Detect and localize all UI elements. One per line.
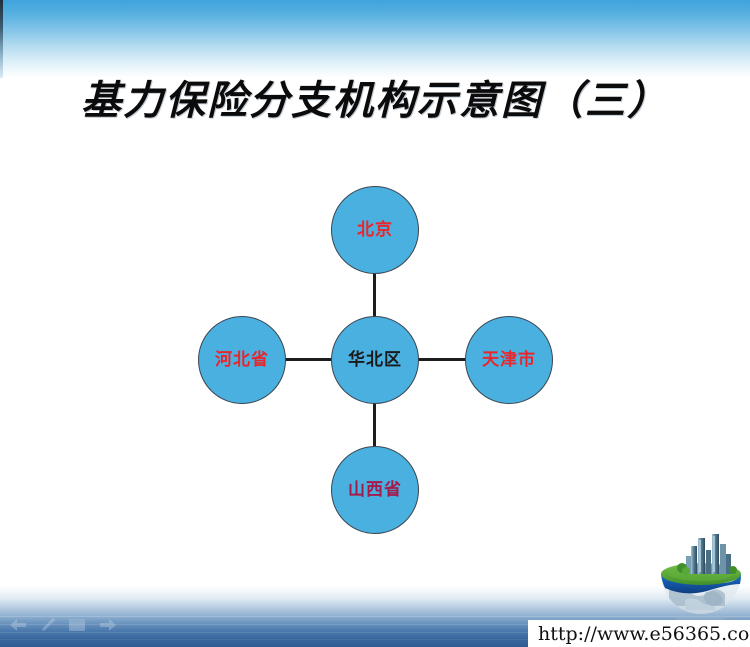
watermark-banner: http://www.e56365.com [528, 620, 750, 647]
diagram-node-label: 山西省 [348, 482, 402, 499]
diagram-node-tianjin[interactable]: 天津市 [465, 316, 553, 404]
pen-icon[interactable] [40, 617, 56, 633]
menu-page-icon[interactable] [68, 618, 86, 632]
diagram-node-beijing[interactable]: 北京 [331, 186, 419, 274]
connector-center-to-top [373, 272, 376, 318]
diagram-node-north-china-region[interactable]: 华北区 [331, 316, 419, 404]
org-structure-diagram: 北京 河北省 华北区 天津市 山西省 [0, 0, 750, 647]
presentation-slide: 基力保险分支机构示意图（三） 北京 河北省 华北区 天津市 山西省 [0, 0, 750, 647]
connector-center-to-right [417, 358, 467, 361]
globe-city-icon [655, 528, 747, 624]
diagram-node-label: 天津市 [482, 352, 536, 369]
next-arrow-icon[interactable] [98, 618, 118, 632]
connector-center-to-left [284, 358, 333, 361]
diagram-node-shanxi[interactable]: 山西省 [331, 446, 419, 534]
previous-arrow-icon[interactable] [8, 618, 28, 632]
diagram-node-label: 河北省 [215, 352, 269, 369]
connector-center-to-bottom [373, 402, 376, 448]
diagram-node-label: 北京 [357, 222, 393, 239]
diagram-node-hebei[interactable]: 河北省 [198, 316, 286, 404]
slideshow-nav-toolbar[interactable] [8, 617, 118, 633]
watermark-url: http://www.e56365.com [538, 623, 750, 645]
diagram-node-label: 华北区 [348, 352, 402, 369]
